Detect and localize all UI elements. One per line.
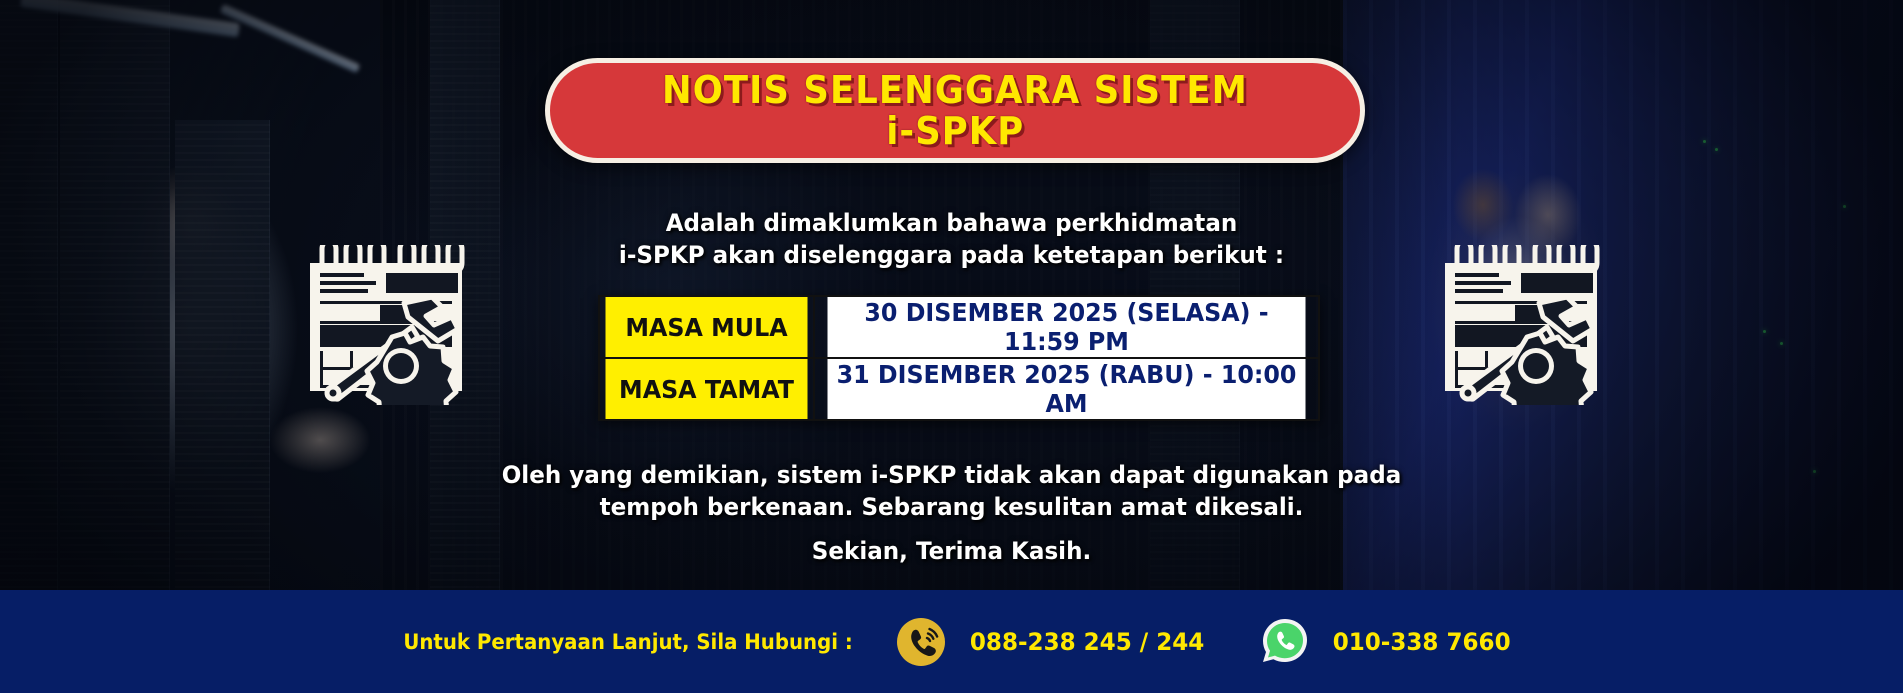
contact-phone[interactable]: 088-238 245 / 244 — [895, 616, 1209, 668]
contact-whatsapp[interactable]: 010-338 7660 — [1259, 616, 1514, 668]
intro-text: Adalah dimaklumkan bahawa perkhidmatan i… — [38, 207, 1865, 272]
outro-text: Oleh yang demikian, sistem i-SPKP tidak … — [38, 459, 1865, 524]
table-row: MASA MULA 30 DISEMBER 2025 (SELASA) - 11… — [599, 296, 1319, 358]
schedule-value-start: 30 DISEMBER 2025 (SELASA) - 11:59 PM — [827, 296, 1307, 358]
intro-line-1: Adalah dimaklumkan bahawa perkhidmatan — [38, 207, 1865, 239]
notice-title-line-1: NOTIS SELENGGARA SISTEM — [662, 70, 1248, 110]
contact-whatsapp-number: 010-338 7660 — [1333, 628, 1511, 656]
contact-phone-number: 088-238 245 / 244 — [970, 628, 1204, 656]
notice-title-banner: NOTIS SELENGGARA SISTEM i-SPKP — [545, 58, 1365, 163]
schedule-value-end: 31 DISEMBER 2025 (RABU) - 10:00 AM — [827, 358, 1307, 420]
schedule-label-end: MASA TAMAT — [604, 358, 808, 420]
thanks-text: Sekian, Terima Kasih. — [38, 537, 1865, 565]
contact-prompt-label: Untuk Pertanyaan Lanjut, Sila Hubungi : — [403, 630, 852, 654]
table-row: MASA TAMAT 31 DISEMBER 2025 (RABU) - 10:… — [599, 358, 1319, 420]
schedule-label-start: MASA MULA — [604, 296, 808, 358]
whatsapp-icon — [1259, 616, 1311, 668]
outro-line-2: tempoh berkenaan. Sebarang kesulitan ama… — [38, 491, 1865, 523]
outro-line-1: Oleh yang demikian, sistem i-SPKP tidak … — [38, 459, 1865, 491]
phone-icon — [895, 616, 947, 668]
maintenance-schedule-table: MASA MULA 30 DISEMBER 2025 (SELASA) - 11… — [598, 295, 1320, 421]
notice-title-line-2: i-SPKP — [886, 111, 1024, 151]
maintenance-notice-banner: NOTIS SELENGGARA SISTEM i-SPKP Adalah di… — [0, 0, 1903, 693]
contact-footer-bar: Untuk Pertanyaan Lanjut, Sila Hubungi : … — [0, 590, 1903, 693]
intro-line-2: i-SPKP akan diselenggara pada ketetapan … — [38, 239, 1865, 271]
